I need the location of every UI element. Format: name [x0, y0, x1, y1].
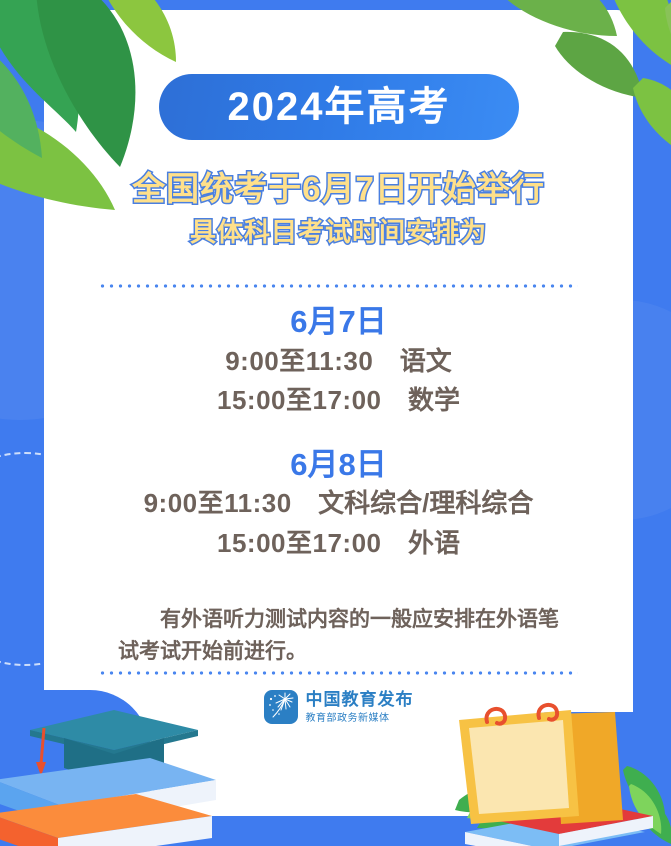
headline-main: 全国统考于6月7日开始举行 [44, 168, 633, 209]
schedule-day-label: 6月8日 [290, 447, 386, 482]
dandelion-icon [264, 690, 298, 724]
schedule-day: 6月7日 9:00至11:30 语文 15:00至17:00 数学 [44, 304, 633, 421]
brand-name: 中国教育发布 [306, 690, 414, 710]
slot-time: 9:00至11:30 [144, 488, 292, 518]
slot-subject: 语文 [400, 346, 452, 376]
schedule-list: 6月7日 9:00至11:30 语文 15:00至17:00 数学 6月8日 9… [44, 304, 633, 571]
brand-subtitle: 教育部政务新媒体 [306, 713, 414, 725]
slot-subject: 数学 [408, 385, 460, 415]
divider-top [98, 284, 578, 288]
schedule-slot: 9:00至11:30 文科综合/理科综合 [44, 484, 633, 524]
footnote-text: 有外语听力测试内容的一般应安排在外语笔试考试开始前进行。 [118, 604, 563, 668]
graduation-cap-books-illustration [0, 688, 232, 846]
title-badge-label: 2024年高考 [228, 87, 451, 127]
slot-time: 9:00至11:30 [225, 346, 373, 376]
title-badge: 2024年高考 [159, 74, 519, 140]
headline-subtitle: 具体科目考试时间安排为 [44, 216, 633, 249]
schedule-day-heading: 6月7日 [282, 304, 394, 342]
slot-time: 15:00至17:00 [217, 385, 382, 415]
schedule-slot: 15:00至17:00 数学 [44, 381, 633, 421]
divider-bottom [98, 671, 578, 675]
schedule-day-label: 6月7日 [290, 304, 386, 339]
schedule-day: 6月8日 9:00至11:30 文科综合/理科综合 15:00至17:00 外语 [44, 447, 633, 564]
brand-text-block: 中国教育发布 教育部政务新媒体 [306, 690, 414, 724]
schedule-slot: 9:00至11:30 语文 [44, 342, 633, 382]
schedule-slot: 15:00至17:00 外语 [44, 524, 633, 564]
desk-calendar-books-illustration [431, 692, 671, 846]
slot-subject: 外语 [408, 528, 460, 558]
schedule-day-heading: 6月8日 [282, 447, 394, 485]
poster-root: 2024年高考 全国统考于6月7日开始举行 具体科目考试时间安排为 6月7日 9… [0, 0, 671, 846]
slot-subject: 文科综合/理科综合 [318, 488, 533, 518]
headline-block: 全国统考于6月7日开始举行 具体科目考试时间安排为 [44, 168, 633, 249]
slot-time: 15:00至17:00 [217, 528, 382, 558]
